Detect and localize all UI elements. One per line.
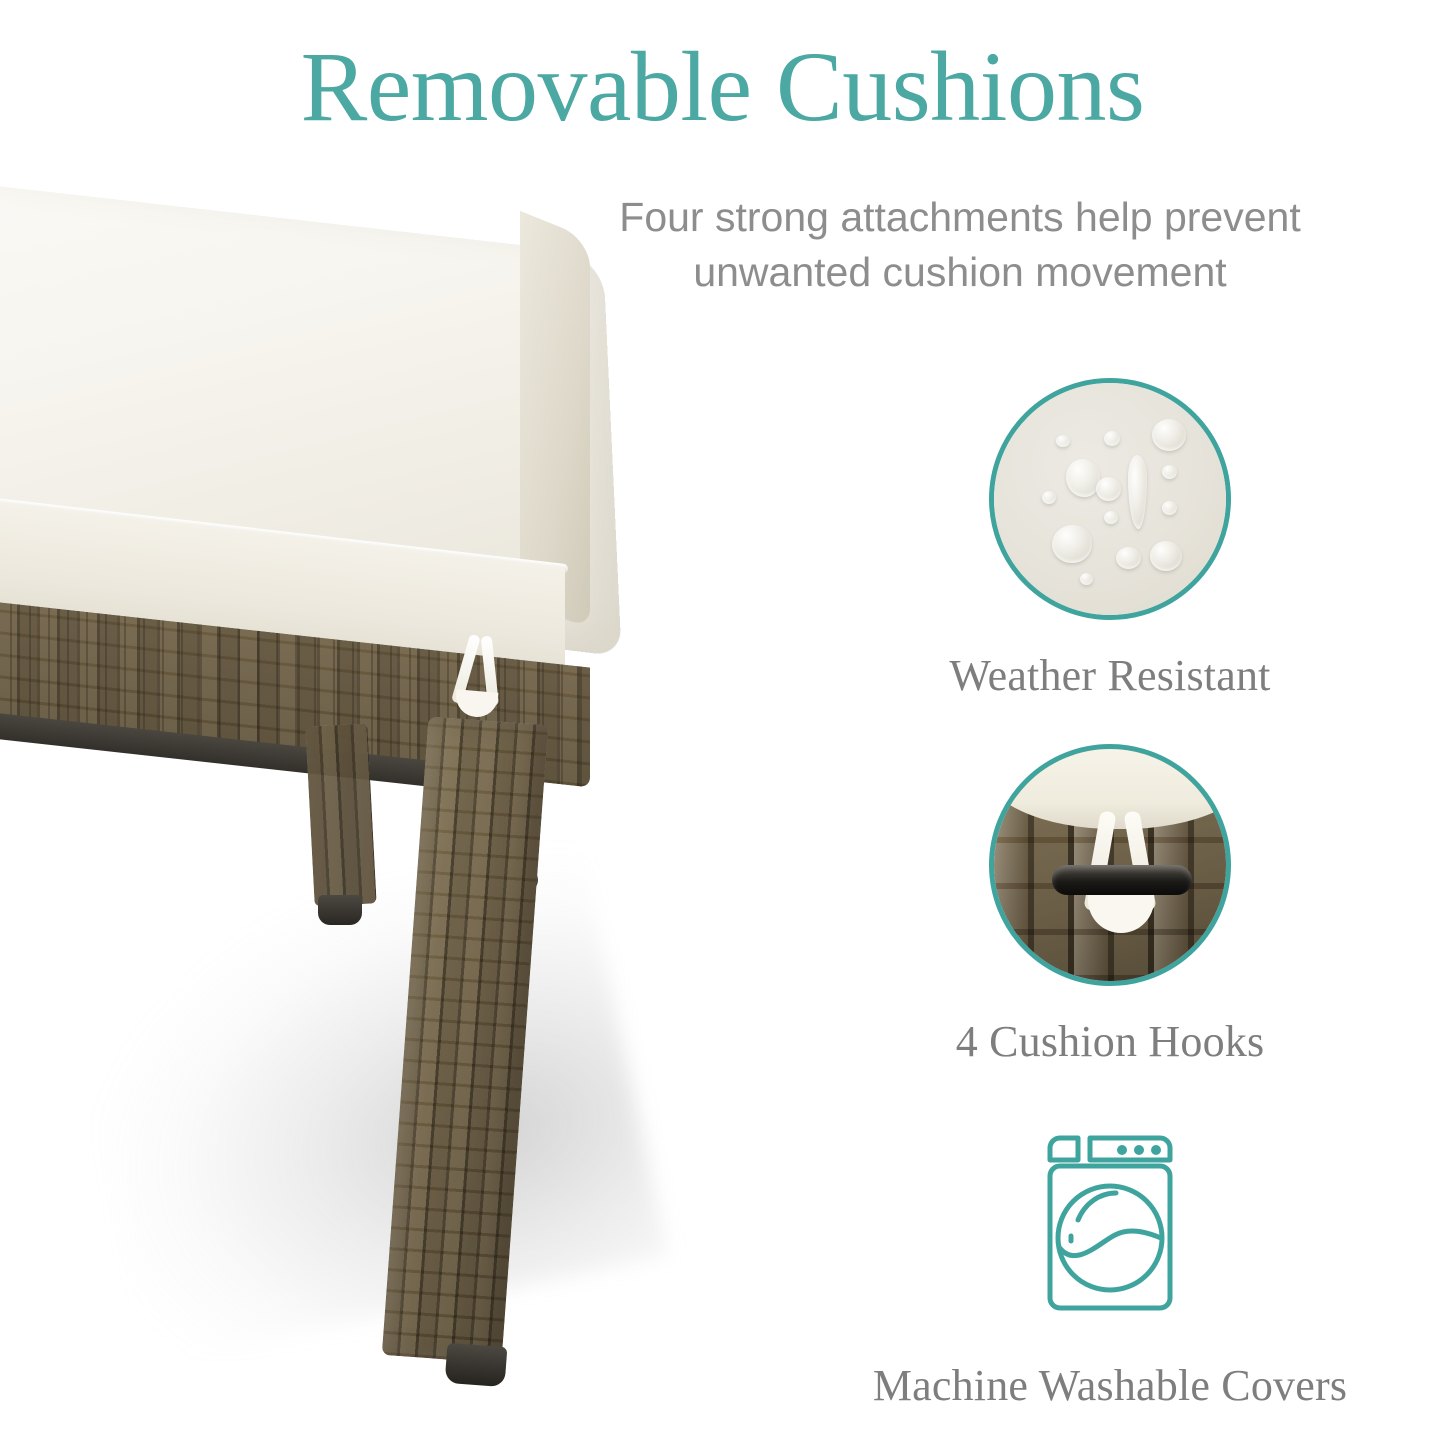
page-title: Removable Cushions — [0, 34, 1445, 139]
black-toggle-hook — [1052, 865, 1192, 895]
water-droplet — [1066, 459, 1100, 497]
cushion-strap-toggle-closeup-photo — [989, 744, 1231, 986]
feature-caption: Weather Resistant — [830, 650, 1390, 701]
water-droplet — [1152, 419, 1186, 451]
feature-caption: 4 Cushion Hooks — [830, 1016, 1390, 1067]
water-droplet — [1042, 491, 1056, 504]
washing-machine-icon — [1040, 1120, 1180, 1316]
water-droplet — [1104, 511, 1118, 524]
marketing-infographic: Removable Cushions Four strong attachmen… — [0, 0, 1445, 1445]
control-dots — [1117, 1145, 1161, 1155]
wicker-leg-rear — [305, 724, 376, 907]
water-droplets-on-fabric-photo — [989, 378, 1231, 620]
water-droplet — [1096, 477, 1121, 501]
feature-weather-resistant: Weather Resistant — [830, 378, 1390, 701]
water-droplet — [1162, 465, 1177, 479]
feature-caption: Machine Washable Covers — [830, 1360, 1390, 1411]
cushion — [0, 195, 620, 665]
water-droplet — [1104, 431, 1120, 446]
water-droplet — [1052, 525, 1092, 563]
feature-machine-washable: Machine Washable Covers — [830, 1118, 1390, 1411]
water-droplet — [1116, 547, 1141, 569]
floor-shadow — [62, 844, 668, 1365]
icon-holder — [989, 1118, 1231, 1318]
water-droplet — [1080, 573, 1093, 585]
water-droplet — [1150, 541, 1182, 571]
water-droplet — [1056, 435, 1070, 447]
leg-foot-front — [445, 1343, 508, 1387]
product-photo — [0, 195, 700, 1425]
water-droplet — [1162, 501, 1177, 515]
feature-cushion-hooks: 4 Cushion Hooks — [830, 744, 1390, 1067]
leg-foot-rear — [318, 895, 362, 925]
cushion-strap — [453, 633, 504, 715]
